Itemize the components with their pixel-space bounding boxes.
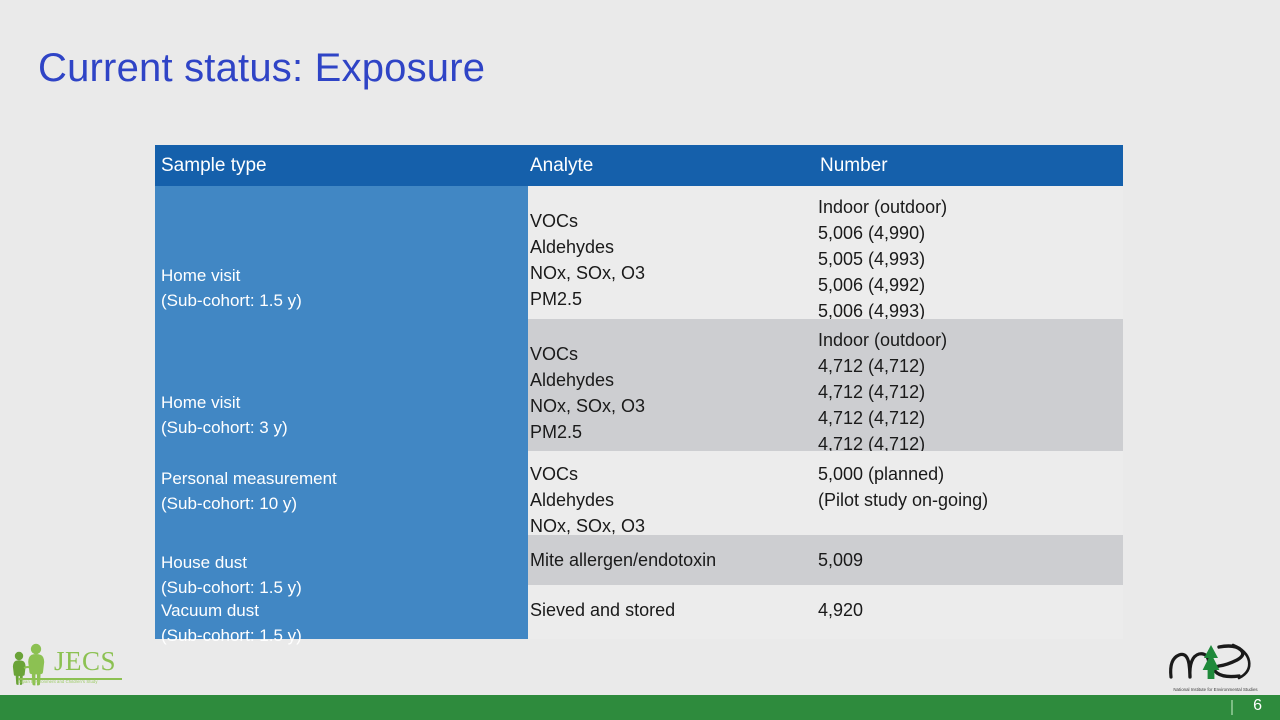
cell-analyte: Mite allergen/endotoxin	[528, 535, 818, 585]
exposure-table: Sample type Analyte Number Home visit(Su…	[155, 145, 1123, 639]
table-row: VOCsAldehydesNOx, SOx, O35,000 (planned)…	[528, 451, 1123, 535]
analyte-line: PM2.5	[530, 286, 818, 312]
number-line: 4,712 (4,712)	[818, 405, 1123, 431]
number-line: 4,712 (4,712)	[818, 353, 1123, 379]
sample-type-subcohort: (Sub-cohort: 10 y)	[161, 492, 337, 517]
cell-number: Indoor (outdoor)5,006 (4,990)5,005 (4,99…	[818, 186, 1123, 319]
jecs-logo: JECS Japan Environment and Children's St…	[10, 642, 130, 692]
footer-bar: 6	[0, 695, 1280, 720]
analyte-line: VOCs	[530, 208, 818, 234]
sample-type-subcohort: (Sub-cohort: 3 y)	[161, 416, 288, 441]
cell-sample-type: Personal measurement(Sub-cohort: 10 y)	[161, 467, 337, 516]
cell-sample-type: Home visit(Sub-cohort: 1.5 y)	[161, 264, 302, 313]
sample-type-subcohort: (Sub-cohort: 1.5 y)	[161, 576, 302, 601]
sample-type-name: House dust	[161, 551, 302, 576]
analyte-line: Sieved and stored	[530, 597, 818, 623]
nies-mark-icon	[1163, 641, 1268, 685]
analyte-line: Mite allergen/endotoxin	[530, 547, 818, 573]
column-header-number: Number	[818, 155, 1123, 177]
analyte-line: VOCs	[530, 341, 818, 367]
table-row: Mite allergen/endotoxin5,009	[528, 535, 1123, 585]
jecs-subtitle: Japan Environment and Children's Study	[18, 679, 98, 684]
cell-number: 4,920	[818, 585, 1123, 639]
page-number: 6	[1253, 697, 1262, 715]
sample-type-name: Home visit	[161, 391, 288, 416]
number-line: 5,005 (4,993)	[818, 246, 1123, 272]
sample-type-name: Vacuum dust	[161, 599, 302, 624]
table-row: VOCsAldehydesNOx, SOx, O3PM2.5Indoor (ou…	[528, 319, 1123, 451]
number-line: 5,000 (planned)	[818, 461, 1123, 487]
cell-sample-type: Vacuum dust(Sub-cohort: 1.5 y)	[161, 599, 302, 648]
column-header-analyte: Analyte	[528, 155, 818, 177]
analyte-line: VOCs	[530, 461, 818, 487]
page-number-separator	[1231, 700, 1233, 715]
nies-logo: National Institute for Environmental Stu…	[1163, 641, 1268, 693]
cell-analyte: VOCsAldehydesNOx, SOx, O3PM2.5	[528, 319, 818, 451]
cell-analyte: Sieved and stored	[528, 585, 818, 639]
table-row: Sieved and stored4,920	[528, 585, 1123, 639]
column-header-sample-type: Sample type	[155, 155, 528, 177]
number-line: 5,009	[818, 547, 1123, 573]
number-line: 4,920	[818, 597, 1123, 623]
cell-sample-type: Home visit(Sub-cohort: 3 y)	[161, 391, 288, 440]
cell-analyte: VOCsAldehydesNOx, SOx, O3PM2.5	[528, 186, 818, 319]
jecs-wordmark: JECS	[54, 646, 116, 677]
cell-analyte: VOCsAldehydesNOx, SOx, O3	[528, 451, 818, 535]
analyte-line: NOx, SOx, O3	[530, 393, 818, 419]
number-line: 4,712 (4,712)	[818, 379, 1123, 405]
sample-type-subcohort: (Sub-cohort: 1.5 y)	[161, 289, 302, 314]
number-line: Indoor (outdoor)	[818, 194, 1123, 220]
page-title: Current status: Exposure	[38, 46, 485, 91]
sample-type-name: Personal measurement	[161, 467, 337, 492]
analyte-line: Aldehydes	[530, 234, 818, 260]
table-body: Home visit(Sub-cohort: 1.5 y)Home visit(…	[155, 186, 1123, 639]
data-column: VOCsAldehydesNOx, SOx, O3PM2.5Indoor (ou…	[528, 186, 1123, 639]
number-line: 5,006 (4,990)	[818, 220, 1123, 246]
analyte-line: Aldehydes	[530, 487, 818, 513]
analyte-line: NOx, SOx, O3	[530, 260, 818, 286]
analyte-line: PM2.5	[530, 419, 818, 445]
sample-type-name: Home visit	[161, 264, 302, 289]
table-row: VOCsAldehydesNOx, SOx, O3PM2.5Indoor (ou…	[528, 186, 1123, 319]
cell-number: 5,009	[818, 535, 1123, 585]
cell-number: Indoor (outdoor)4,712 (4,712)4,712 (4,71…	[818, 319, 1123, 451]
cell-sample-type: House dust(Sub-cohort: 1.5 y)	[161, 551, 302, 600]
analyte-line: Aldehydes	[530, 367, 818, 393]
number-line: Indoor (outdoor)	[818, 327, 1123, 353]
table-header-row: Sample type Analyte Number	[155, 145, 1123, 186]
sample-type-column: Home visit(Sub-cohort: 1.5 y)Home visit(…	[155, 186, 528, 639]
nies-subtitle: National Institute for Environmental Stu…	[1163, 687, 1268, 692]
cell-number: 5,000 (planned)(Pilot study on-going)	[818, 451, 1123, 535]
number-line: 5,006 (4,992)	[818, 272, 1123, 298]
number-line: (Pilot study on-going)	[818, 487, 1123, 513]
sample-type-subcohort: (Sub-cohort: 1.5 y)	[161, 624, 302, 649]
